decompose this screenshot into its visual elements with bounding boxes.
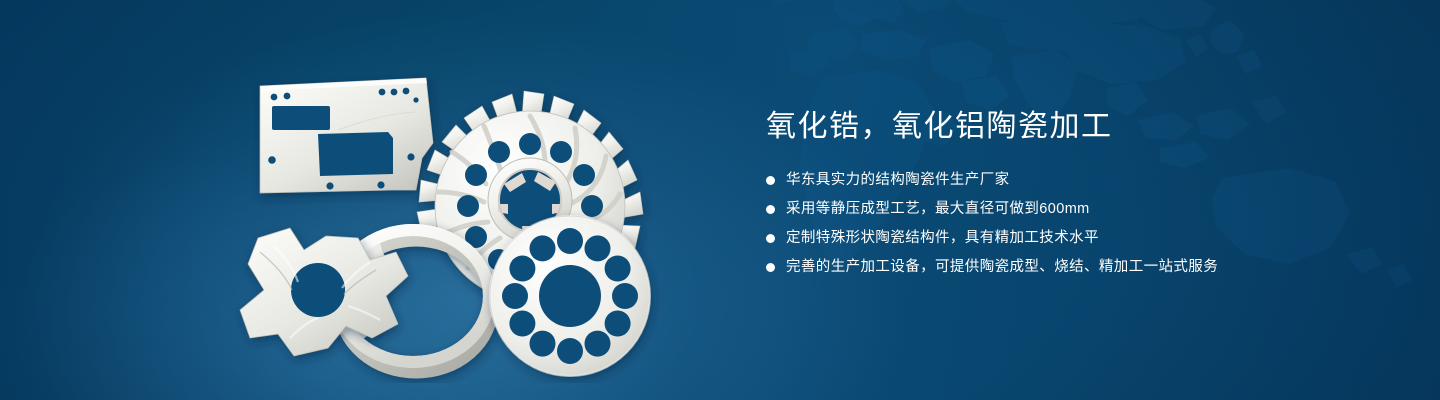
list-item: 采用等静压成型工艺，最大直径可做到600mm xyxy=(766,199,1386,219)
list-item-label: 华东具实力的结构陶瓷件生产厂家 xyxy=(786,170,1010,190)
hero-banner: 氧化锆，氧化铝陶瓷加工 华东具实力的结构陶瓷件生产厂家 采用等静压成型工艺，最大… xyxy=(0,0,1440,400)
list-item: 完善的生产加工设备，可提供陶瓷成型、烧结、精加工一站式服务 xyxy=(766,257,1386,277)
list-item-label: 完善的生产加工设备，可提供陶瓷成型、烧结、精加工一站式服务 xyxy=(786,257,1218,277)
list-item-label: 定制特殊形状陶瓷结构件，具有精加工技术水平 xyxy=(786,228,1099,248)
bullet-dot-icon xyxy=(766,263,775,272)
banner-copy: 氧化锆，氧化铝陶瓷加工 华东具实力的结构陶瓷件生产厂家 采用等静压成型工艺，最大… xyxy=(766,106,1386,277)
ceramic-perforated-disc-shape xyxy=(490,216,650,376)
list-item-label: 采用等静压成型工艺，最大直径可做到600mm xyxy=(786,199,1090,219)
ceramic-mounting-plate-shape xyxy=(260,78,433,193)
bullet-dot-icon xyxy=(766,234,775,243)
feature-list: 华东具实力的结构陶瓷件生产厂家 采用等静压成型工艺，最大直径可做到600mm 定… xyxy=(766,170,1386,277)
ceramic-products-image xyxy=(230,38,680,383)
list-item: 华东具实力的结构陶瓷件生产厂家 xyxy=(766,170,1386,190)
list-item: 定制特殊形状陶瓷结构件，具有精加工技术水平 xyxy=(766,228,1386,248)
page-title: 氧化锆，氧化铝陶瓷加工 xyxy=(766,106,1386,148)
bullet-dot-icon xyxy=(766,205,775,214)
bullet-dot-icon xyxy=(766,176,775,185)
